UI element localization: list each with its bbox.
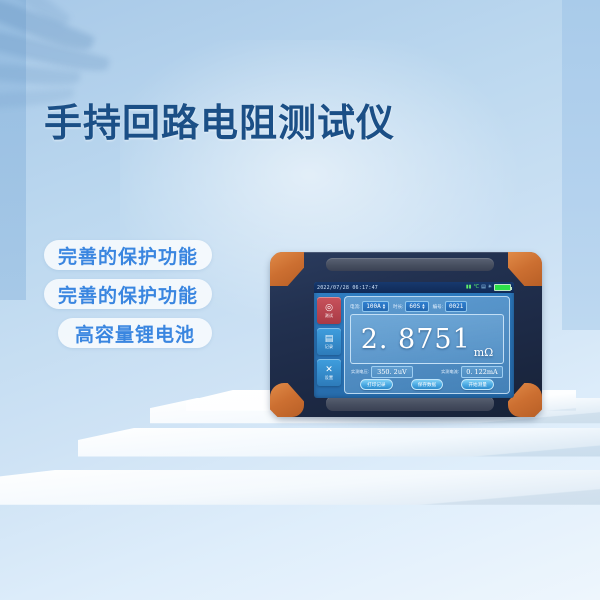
sidebar-item-label: 测试 bbox=[325, 313, 333, 319]
sidebar-item-settings[interactable]: ✕ 设置 bbox=[317, 359, 341, 386]
measured-current-value: 0. 122mA bbox=[461, 366, 503, 378]
screen-sidebar: ◎ 测试 ▤ 记录 ✕ 设置 bbox=[317, 297, 341, 386]
duration-stepper[interactable]: 60S ▲▼ bbox=[405, 301, 428, 312]
parameter-label: 编号: bbox=[433, 304, 443, 310]
measured-voltage-value: 350. 2uV bbox=[371, 366, 413, 378]
product-banner: 手持回路电阻测试仪 完善的保护功能 完善的保护功能 高容量锂电池 2022/07… bbox=[0, 0, 600, 600]
reading-value: 2. 8751 bbox=[361, 326, 471, 353]
corner-bumper-top-left bbox=[270, 252, 304, 286]
start-measure-button[interactable]: 开始测量 bbox=[461, 379, 493, 390]
measurement-row: 实测电压: 350. 2uV 实测电流: 0. 122mA bbox=[349, 366, 505, 378]
record-icon: ▤ bbox=[325, 334, 334, 343]
parameter-current[interactable]: 电流: 100A ▲▼ bbox=[350, 301, 389, 312]
device-body: 2022/07/28 06:17:47 ▮▮ ℃ ▤ ✳ ◎ 测试 bbox=[270, 252, 542, 417]
bluetooth-icon: ✳ bbox=[488, 285, 492, 290]
measured-voltage-label: 实测电压: bbox=[351, 369, 369, 375]
feature-pill: 完善的保护功能 bbox=[44, 279, 212, 309]
rubber-grip-top bbox=[326, 258, 494, 271]
parameter-serial[interactable]: 编号: 0021 bbox=[433, 301, 468, 312]
parameter-duration[interactable]: 时长: 60S ▲▼ bbox=[393, 301, 429, 312]
temperature-icon: ℃ bbox=[473, 285, 479, 290]
page-title: 手持回路电阻测试仪 bbox=[44, 92, 395, 147]
print-records-button[interactable]: 打印记录 bbox=[360, 379, 392, 390]
primary-reading: 2. 8751 mΩ bbox=[350, 314, 504, 364]
parameter-label: 时长: bbox=[393, 304, 403, 310]
corner-bumper-top-right bbox=[508, 252, 542, 286]
serial-value: 0021 bbox=[445, 301, 467, 312]
measured-current-label: 实测电流: bbox=[441, 369, 459, 375]
current-value: 100A bbox=[366, 303, 380, 310]
corner-bumper-bottom-left bbox=[270, 383, 304, 417]
signal-icon: ▮▮ bbox=[466, 285, 472, 290]
device-product-image: 2022/07/28 06:17:47 ▮▮ ℃ ▤ ✳ ◎ 测试 bbox=[262, 248, 552, 428]
measured-current: 实测电流: 0. 122mA bbox=[441, 366, 503, 378]
status-icon-group: ▮▮ ℃ ▤ ✳ bbox=[466, 284, 511, 291]
reading-unit: mΩ bbox=[474, 346, 494, 359]
sidebar-item-record[interactable]: ▤ 记录 bbox=[317, 328, 341, 355]
sidebar-item-test[interactable]: ◎ 测试 bbox=[317, 297, 341, 324]
lock-icon: ▤ bbox=[481, 285, 486, 290]
feature-pill: 完善的保护功能 bbox=[44, 240, 212, 270]
screen-main-panel: 电流: 100A ▲▼ 时长: 60S ▲▼ bbox=[344, 296, 510, 394]
sidebar-item-label: 设置 bbox=[325, 375, 333, 381]
battery-icon bbox=[494, 284, 511, 291]
status-bar: 2022/07/28 06:17:47 ▮▮ ℃ ▤ ✳ bbox=[314, 282, 514, 293]
background-right-wall bbox=[562, 0, 600, 330]
parameter-label: 电流: bbox=[350, 304, 360, 310]
parameter-row: 电流: 100A ▲▼ 时长: 60S ▲▼ bbox=[349, 301, 505, 312]
target-icon: ◎ bbox=[325, 303, 333, 312]
save-data-button[interactable]: 保存数据 bbox=[411, 379, 443, 390]
chevron-updown-icon[interactable]: ▲▼ bbox=[383, 304, 385, 309]
rubber-grip-bottom bbox=[326, 396, 494, 411]
feature-list: 完善的保护功能 完善的保护功能 高容量锂电池 bbox=[44, 240, 212, 348]
chevron-updown-icon[interactable]: ▲▼ bbox=[422, 304, 424, 309]
status-datetime: 2022/07/28 06:17:47 bbox=[317, 285, 378, 291]
sidebar-item-label: 记录 bbox=[325, 344, 333, 350]
duration-value: 60S bbox=[409, 303, 420, 310]
current-stepper[interactable]: 100A ▲▼ bbox=[362, 301, 389, 312]
screen-button-row: 打印记录 保存数据 开始测量 bbox=[349, 378, 505, 390]
feature-pill: 高容量锂电池 bbox=[58, 318, 212, 348]
measured-voltage: 实测电压: 350. 2uV bbox=[351, 366, 413, 378]
settings-icon: ✕ bbox=[325, 365, 333, 374]
device-screen[interactable]: 2022/07/28 06:17:47 ▮▮ ℃ ▤ ✳ ◎ 测试 bbox=[314, 282, 514, 398]
